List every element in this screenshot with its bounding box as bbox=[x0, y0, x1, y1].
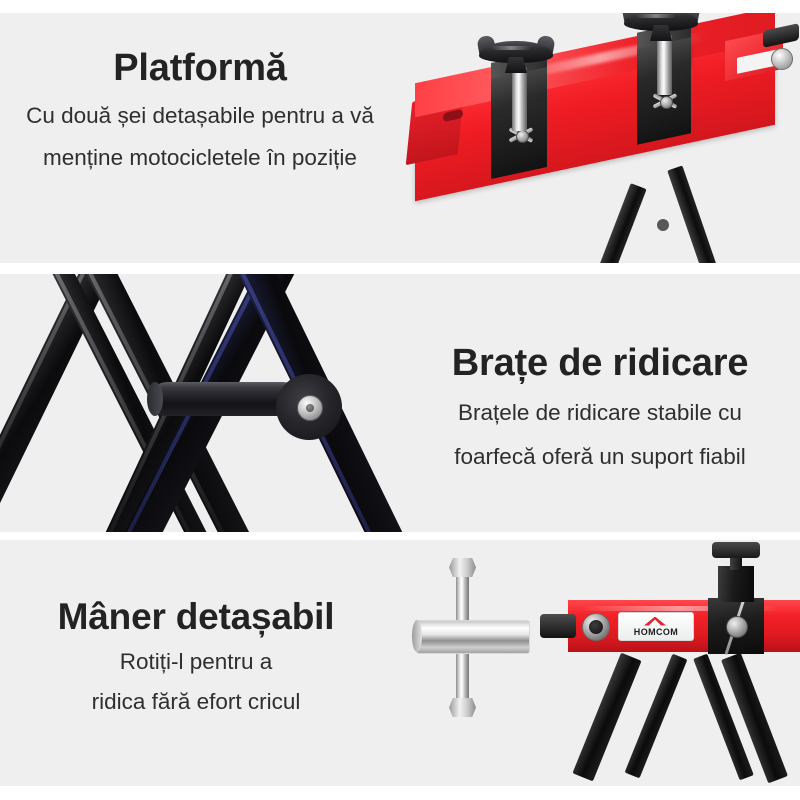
homcom-logo: HOMCOM bbox=[627, 617, 685, 637]
rail-end-stub bbox=[540, 614, 576, 638]
panel-2-headline: Brațe de ridicare bbox=[400, 344, 800, 384]
scissor-leg-pivot bbox=[657, 219, 669, 231]
feature-panel-lift-arms: Brațe de ridicare Brațele de ridicare st… bbox=[0, 274, 800, 532]
saddle-post-rear bbox=[657, 35, 672, 95]
scissor-leg-back bbox=[667, 165, 719, 263]
knob-post bbox=[718, 566, 754, 602]
panel-3-body-line-2: ridica fără efort cricul bbox=[0, 687, 392, 717]
panel-2-body-line-2: foarfecă oferă un suport fiabil bbox=[400, 442, 800, 472]
roof-icon bbox=[644, 617, 666, 626]
rail-socket-port bbox=[582, 613, 610, 641]
wing-screw-hub bbox=[516, 130, 529, 143]
panel-3-copy: Mâner detașabil Rotiți-l pentru a ridica… bbox=[0, 598, 392, 717]
pivot-hub bbox=[276, 374, 342, 440]
feature-panel-handle: Mâner detașabil Rotiți-l pentru a ridica… bbox=[0, 540, 800, 786]
platform-endcap-bolt bbox=[771, 48, 793, 70]
t-handle-grip-tube bbox=[416, 620, 530, 654]
cross-tube-end-cap bbox=[147, 382, 163, 416]
panel-1-body-line-1: Cu două șei detașabile pentru a vă bbox=[0, 101, 400, 131]
saddle-highlight bbox=[491, 46, 531, 50]
saddle-post-front bbox=[512, 67, 527, 131]
brand-badge: HOMCOM bbox=[618, 612, 694, 641]
wing-screw-hub bbox=[660, 96, 673, 109]
t-handle-nut-bottom bbox=[449, 698, 476, 717]
saddle-rear bbox=[624, 13, 698, 39]
brand-name: HOMCOM bbox=[627, 627, 685, 637]
panel-2-copy: Brațe de ridicare Brațele de ridicare st… bbox=[400, 344, 800, 472]
t-handle-grip-cap bbox=[412, 620, 422, 652]
panel-1-copy: Platformă Cu două șei detașabile pentru … bbox=[0, 49, 400, 173]
panel-1-headline: Platformă bbox=[0, 49, 400, 89]
knob-t-bar bbox=[712, 542, 760, 558]
infographic-sheet: Platformă Cu două șei detașabile pentru … bbox=[0, 0, 800, 800]
feature-panel-platform: Platformă Cu două șei detașabile pentru … bbox=[0, 13, 800, 263]
panel-3-body-line-1: Rotiți-l pentru a bbox=[0, 647, 392, 677]
saddle-highlight bbox=[636, 14, 676, 18]
t-handle-crank bbox=[398, 558, 528, 718]
platform-assembly bbox=[395, 13, 800, 263]
clamp-screw bbox=[726, 616, 748, 638]
pivot-bolt bbox=[297, 395, 323, 421]
frame-rail-assembly: HOMCOM bbox=[540, 600, 800, 660]
scissor-leg-front bbox=[596, 183, 646, 263]
panel-3-headline: Mâner detașabil bbox=[0, 598, 392, 637]
handle-clamp-block bbox=[708, 598, 764, 654]
saddle-front bbox=[479, 41, 553, 71]
scissor-arm-left-a bbox=[0, 274, 123, 532]
panel-1-body-line-2: menține motocicletele în poziție bbox=[0, 143, 400, 173]
t-handle-nut-top bbox=[449, 558, 476, 577]
panel-2-body-line-1: Brațele de ridicare stabile cu bbox=[400, 398, 800, 428]
